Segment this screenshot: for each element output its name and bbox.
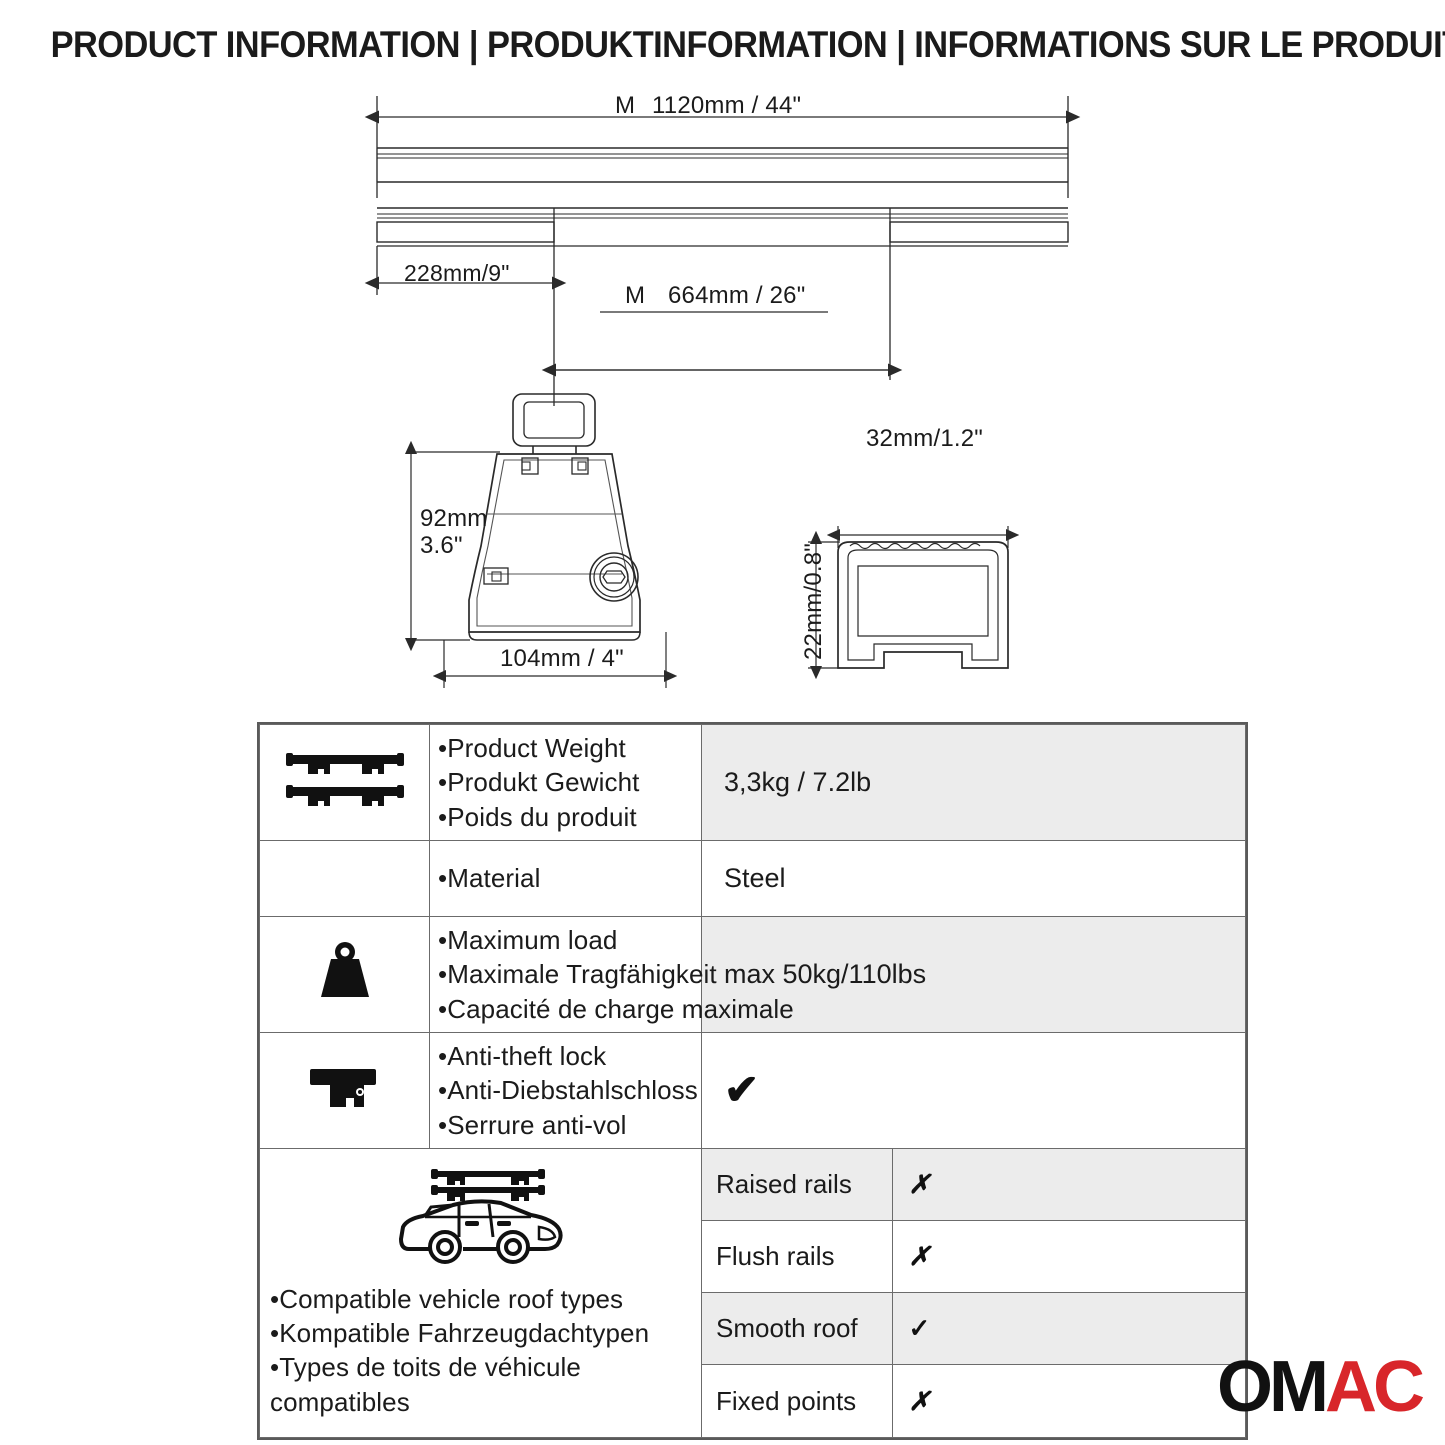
roof-types-labels: •Compatible vehicle roof types •Kompatib… — [270, 1282, 691, 1419]
label-line: •Kompatible Fahrzeugdachtypen — [270, 1316, 691, 1350]
roof-option-row: Flush rails ✗ — [702, 1221, 1245, 1293]
row-icon-cell — [260, 1032, 430, 1148]
omac-logo: OMAC — [1217, 1351, 1421, 1423]
roof-options-table: Raised rails ✗ Flush rails ✗ — [702, 1149, 1245, 1437]
foot-front-view — [469, 394, 640, 640]
row-label-cell: •Product Weight •Produkt Gewicht •Poids … — [430, 725, 702, 841]
label-line: •Produkt Gewicht — [438, 765, 695, 799]
roof-option-row: Smooth roof ✓ — [702, 1293, 1245, 1365]
label-line: compatibles — [270, 1385, 691, 1419]
label-line: •Anti-theft lock — [438, 1039, 695, 1073]
checkmark-icon: ✔ — [724, 1066, 759, 1113]
roof-option-row: Raised rails ✗ — [702, 1149, 1245, 1221]
foot-height-value-in: 3.6" — [420, 532, 463, 560]
cross-icon: ✗ — [909, 1241, 931, 1271]
product-weight-value: 3,3kg / 7.2lb — [702, 725, 1246, 841]
foot-height-value-mm: 92mm — [420, 505, 487, 533]
label-line: •Material — [438, 861, 695, 895]
lock-bar-icon — [306, 1061, 384, 1120]
label-line: •Maximum load — [438, 923, 695, 957]
roof-option-mark-cell: ✗ — [892, 1149, 1245, 1221]
anti-theft-labels: •Anti-theft lock •Anti-Diebstahlschloss … — [438, 1039, 695, 1142]
roof-options-cell: Raised rails ✗ Flush rails ✗ — [702, 1148, 1246, 1437]
bar-length-value: 1120mm / 44" — [652, 92, 801, 120]
row-label-cell: •Material — [430, 840, 702, 916]
table-row: •Product Weight •Produkt Gewicht •Poids … — [260, 725, 1246, 841]
profile-height-value: 22mm/0.8" — [800, 543, 828, 660]
roof-option-name: Fixed points — [702, 1365, 892, 1437]
row-icon-cell — [260, 725, 430, 841]
roof-option-row: Fixed points ✗ — [702, 1365, 1245, 1437]
roof-option-mark-cell: ✗ — [892, 1365, 1245, 1437]
label-line: •Types de toits de véhicule — [270, 1350, 691, 1384]
foot-spacing-marker: M — [625, 282, 645, 310]
label-line: •Anti-Diebstahlschloss — [438, 1073, 695, 1107]
two-crossbars-icon — [284, 745, 406, 820]
table-row: •Anti-theft lock •Anti-Diebstahlschloss … — [260, 1032, 1246, 1148]
cross-icon: ✗ — [909, 1169, 931, 1199]
foot-spacing-value: 664mm / 26" — [668, 282, 805, 310]
bar-length-marker: M — [615, 92, 635, 120]
label-line: •Compatible vehicle roof types — [270, 1282, 691, 1316]
weight-labels: •Product Weight •Produkt Gewicht •Poids … — [438, 731, 695, 834]
label-line: •Maximale Tragfähigkeit — [438, 957, 695, 991]
dimension-drawing-svg — [0, 80, 1445, 710]
foot-width-value: 104mm / 4" — [500, 645, 624, 673]
roof-option-name: Smooth roof — [702, 1293, 892, 1365]
anti-theft-value-cell: ✔ — [702, 1032, 1246, 1148]
table-row: •Maximum load •Maximale Tragfähigkeit •C… — [260, 916, 1246, 1032]
logo-accent-text: AC — [1325, 1347, 1421, 1427]
car-with-rack-icon — [381, 1161, 581, 1276]
profile-cross-section — [838, 542, 1008, 668]
label-line: •Capacité de charge maximale — [438, 992, 695, 1026]
weight-icon — [313, 941, 377, 1008]
page-title: PRODUCT INFORMATION | PRODUKTINFORMATION… — [51, 24, 1395, 66]
row-label-cell: •Anti-theft lock •Anti-Diebstahlschloss … — [430, 1032, 702, 1148]
roof-option-mark-cell: ✓ — [892, 1293, 1245, 1365]
row-label-cell: •Maximum load •Maximale Tragfähigkeit •C… — [430, 916, 702, 1032]
row-icon-cell — [260, 840, 430, 916]
roof-option-name: Flush rails — [702, 1221, 892, 1293]
label-line: •Product Weight — [438, 731, 695, 765]
checkmark-icon: ✓ — [909, 1313, 931, 1343]
roof-option-name: Raised rails — [702, 1149, 892, 1221]
roof-option-mark-cell: ✗ — [892, 1221, 1245, 1293]
material-labels: •Material — [438, 861, 695, 895]
product-spec-table: •Product Weight •Produkt Gewicht •Poids … — [257, 722, 1248, 1440]
logo-dark-text: OM — [1217, 1347, 1325, 1427]
table-row: •Material Steel — [260, 840, 1246, 916]
cross-icon: ✗ — [909, 1386, 931, 1416]
label-line: •Poids du produit — [438, 800, 695, 834]
material-value: Steel — [702, 840, 1246, 916]
max-load-labels: •Maximum load •Maximale Tragfähigkeit •C… — [438, 923, 695, 1026]
technical-drawing-area: M 1120mm / 44" 228mm/9" M 664mm / 26" 92… — [0, 80, 1445, 710]
roof-types-label-cell: •Compatible vehicle roof types •Kompatib… — [260, 1148, 702, 1437]
label-line: •Serrure anti-vol — [438, 1108, 695, 1142]
row-icon-cell — [260, 916, 430, 1032]
foot-offset-value: 228mm/9" — [404, 260, 510, 287]
table-row: •Compatible vehicle roof types •Kompatib… — [260, 1148, 1246, 1437]
profile-width-value: 32mm/1.2" — [866, 425, 983, 453]
